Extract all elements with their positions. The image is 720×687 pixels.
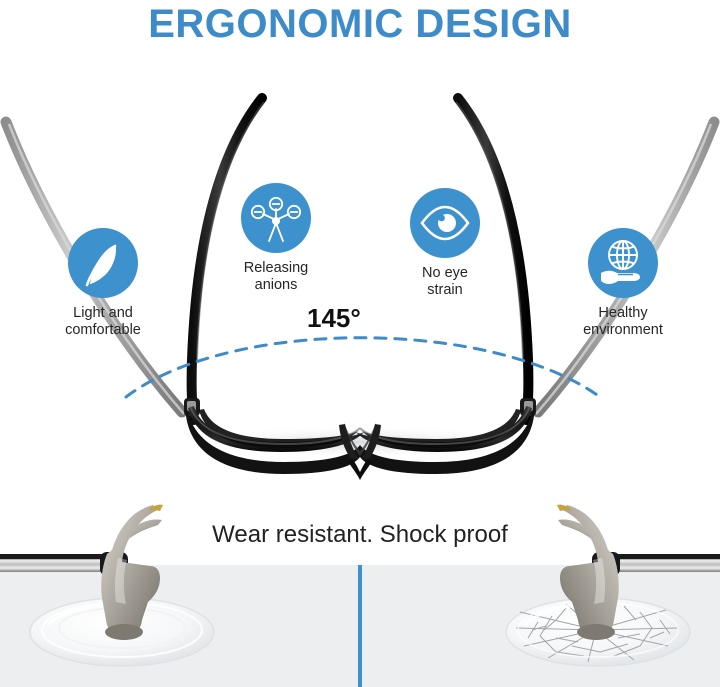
scene-divider <box>358 565 362 687</box>
feather-icon <box>68 228 138 298</box>
feature-healthy-environment: Healthy environment <box>543 228 703 338</box>
feature-no-eye-strain: No eye strain <box>365 188 525 298</box>
hammer-face-right <box>577 624 615 640</box>
feature-icon-circle <box>588 228 658 298</box>
hammer-handle-right-trim <box>610 554 720 559</box>
globe-hand-icon <box>588 228 658 298</box>
anion-icon <box>241 183 311 253</box>
feature-icon-circle <box>410 188 480 258</box>
hand-shape <box>601 271 640 284</box>
angle-value-label: 145° <box>307 303 361 334</box>
bridge-notch <box>348 458 372 480</box>
eye-highlight <box>438 215 445 222</box>
feature-label: Releasing anions <box>196 260 356 293</box>
feature-label: Light and comfortable <box>23 305 183 338</box>
durability-subtitle: Wear resistant. Shock proof <box>0 521 720 549</box>
hero-glasses-illustration: Light and comfortable <box>0 60 720 480</box>
hammer-face-left <box>105 624 143 640</box>
hammer-handle-left-trim <box>0 554 110 559</box>
page-title: ERGONOMIC DESIGN <box>0 2 720 47</box>
feature-icon-circle <box>241 183 311 253</box>
feature-light-and-comfortable: Light and comfortable <box>23 228 183 338</box>
feature-icon-circle <box>68 228 138 298</box>
feature-releasing-anions: Releasing anions <box>196 183 356 293</box>
feature-label: No eye strain <box>365 265 525 298</box>
feature-label: Healthy environment <box>543 305 703 338</box>
eye-icon <box>410 188 480 258</box>
product-infographic: ERGONOMIC DESIGN <box>0 0 720 687</box>
anion-hub <box>272 217 280 225</box>
